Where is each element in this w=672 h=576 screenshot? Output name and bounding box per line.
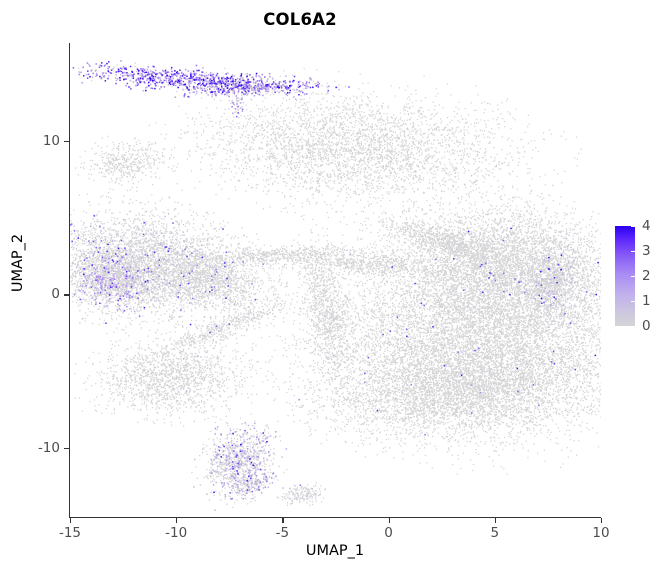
x-axis-line [69, 517, 601, 518]
x-tick-mark [389, 518, 390, 523]
x-tick-label: -5 [276, 525, 289, 541]
page-title: COL6A2 [0, 10, 600, 29]
y-tick-mark [64, 294, 69, 295]
x-tick-label: 0 [384, 525, 393, 541]
umap-feature-plot: COL6A2 -15-10-50510 -10010 UMAP_1 UMAP_2… [0, 0, 672, 576]
legend-tick-label: 0 [642, 318, 651, 334]
x-tick-label: 10 [592, 525, 609, 541]
y-tick-mark [64, 448, 69, 449]
x-tick-label: -10 [165, 525, 187, 541]
legend-tick-mark [631, 251, 638, 252]
x-tick-mark [601, 518, 602, 523]
x-tick-label: -15 [59, 525, 81, 541]
legend-tick-label: 2 [642, 268, 651, 284]
y-tick-label: -10 [38, 440, 60, 456]
scatter-plot-area [70, 44, 601, 517]
legend-tick-mark [631, 301, 638, 302]
legend-tick-label: 4 [642, 218, 651, 234]
x-tick-mark [70, 518, 71, 523]
x-tick-mark [176, 518, 177, 523]
legend-tick-mark [631, 326, 638, 327]
y-tick-label: 10 [43, 133, 60, 149]
color-legend: 01234 [612, 222, 670, 334]
y-tick-mark [64, 141, 69, 142]
x-axis-label: UMAP_1 [69, 543, 601, 559]
legend-tick-mark [631, 226, 638, 227]
x-tick-mark [282, 518, 283, 523]
y-tick-label: 0 [51, 286, 60, 302]
legend-tick-mark [631, 276, 638, 277]
x-tick-mark [495, 518, 496, 523]
x-tick-label: 5 [491, 525, 500, 541]
legend-tick-label: 3 [642, 243, 651, 259]
legend-tick-label: 1 [642, 293, 651, 309]
y-axis-label: UMAP_2 [10, 183, 26, 343]
